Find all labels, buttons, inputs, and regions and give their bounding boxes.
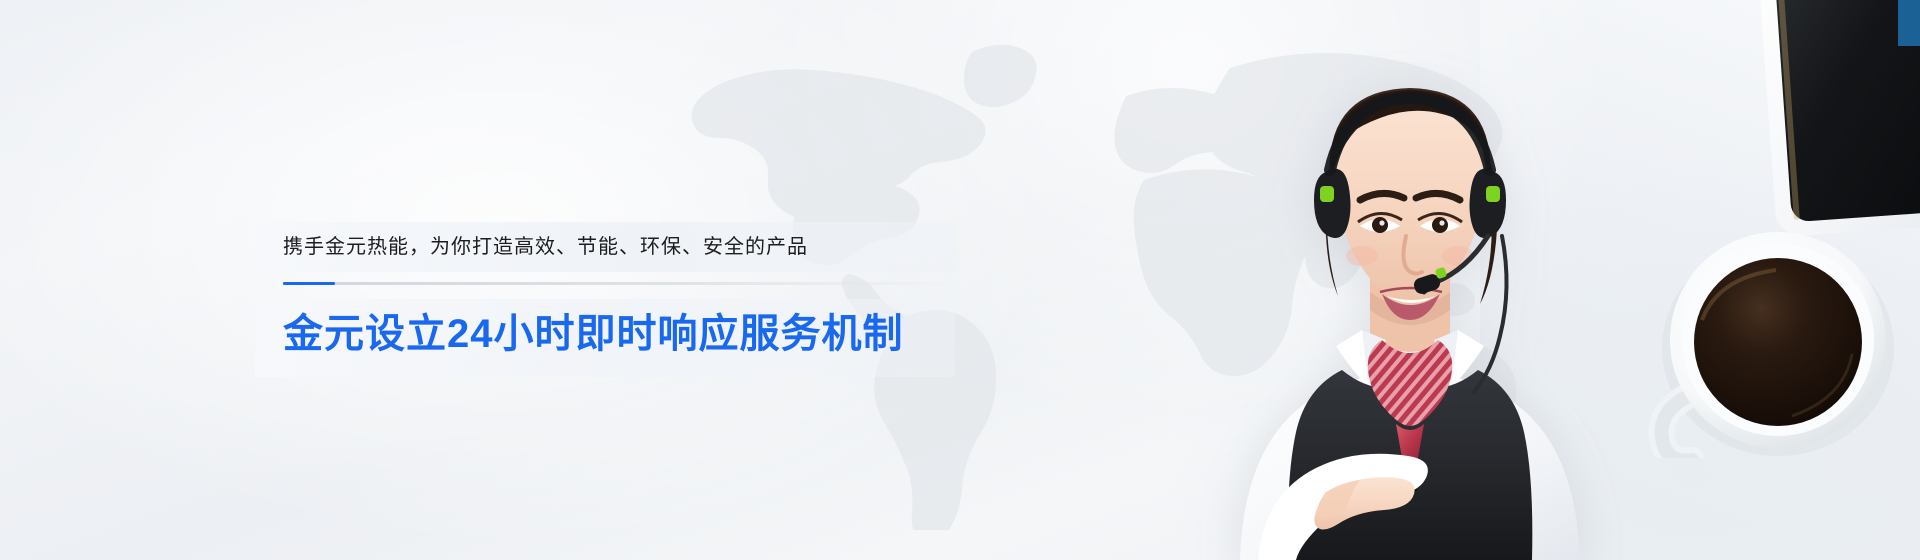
tagline-band: 携手金元热能，为你打造高效、节能、环保、安全的产品 <box>255 222 955 272</box>
headline-band: 金元设立24小时即时响应服务机制 <box>255 299 955 377</box>
hero-headline: 金元设立24小时即时响应服务机制 <box>283 309 955 359</box>
hero-banner: 携手金元热能，为你打造高效、节能、环保、安全的产品 金元设立24小时即时响应服务… <box>0 0 1920 560</box>
divider-rule <box>283 282 955 285</box>
operator-photo <box>1230 40 1590 560</box>
corner-accent-chip <box>1898 0 1920 46</box>
hero-copy: 携手金元热能，为你打造高效、节能、环保、安全的产品 金元设立24小时即时响应服务… <box>255 222 955 377</box>
divider-accent <box>283 282 335 285</box>
coffee-cup <box>1628 208 1918 458</box>
hero-tagline: 携手金元热能，为你打造高效、节能、环保、安全的产品 <box>283 235 955 259</box>
